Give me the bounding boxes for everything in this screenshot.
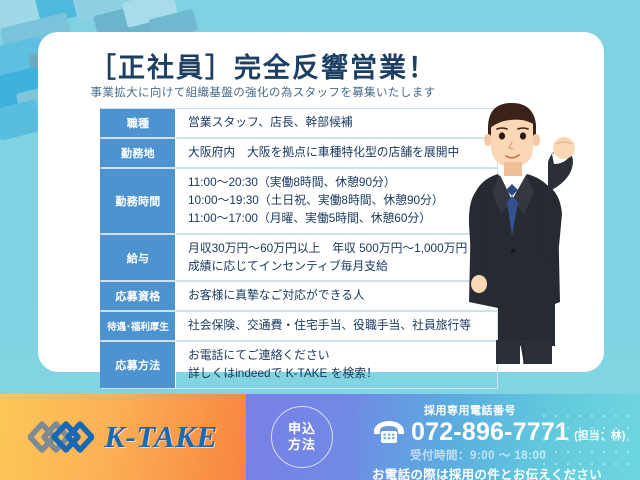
telephone-label: 採用専用電話番号 <box>424 402 640 418</box>
value-line: 詳しくはindeedで K-TAKE を検索！ <box>188 365 491 383</box>
table-row: 勤務地 大阪府内 大阪を拠点に車種特化型の店舗を展開中 <box>100 138 498 168</box>
recruiting-banner: RECRUITING! <box>605 0 638 22</box>
row-value-kyuyo: 月収30万円〜60万円以上 年収 500万円〜1,000万円 成績に応じてインセ… <box>176 234 498 282</box>
value-line: 11:00〜20:30（実働8時間、休憩90分） <box>188 174 491 192</box>
row-label-kinmuchi: 勤務地 <box>100 138 176 168</box>
telephone-block: 採用専用電話番号 072-896- <box>372 402 640 480</box>
table-row: 応募方法 お電話にてご連絡ください 詳しくはindeedで K-TAKE を検索… <box>100 341 498 389</box>
value-line: 大阪府内 大阪を拠点に車種特化型の店舗を展開中 <box>188 144 491 162</box>
value-line: お電話にてご連絡ください <box>188 347 491 365</box>
value-line: 社会保険、交通費・住宅手当、役職手当、社員旅行等 <box>188 317 491 335</box>
row-label-kyuyo: 給与 <box>100 234 176 282</box>
job-details-table: 職種 営業スタッフ、店長、幹部候補 勤務地 大阪府内 大阪を拠点に車種特化型の店… <box>100 108 498 389</box>
table-row: 職種 営業スタッフ、店長、幹部候補 <box>100 108 498 138</box>
company-name: K-TAKE <box>104 419 217 455</box>
telephone-icon <box>372 419 406 445</box>
chain-diamonds-logo-icon <box>28 414 94 460</box>
value-line: 月収30万円〜60万円以上 年収 500万円〜1,000万円 <box>188 240 491 258</box>
row-value-obohoho: お電話にてご連絡ください 詳しくはindeedで K-TAKE を検索！ <box>176 341 498 389</box>
page-title: ［正社員］完全反響営業！ <box>48 46 478 85</box>
job-details-body: 職種 営業スタッフ、店長、幹部候補 勤務地 大阪府内 大阪を拠点に車種特化型の店… <box>100 108 498 389</box>
row-label-oboshikaku: 応募資格 <box>100 281 176 311</box>
table-row: 待遇･福利厚生 社会保険、交通費・住宅手当、役職手当、社員旅行等 <box>100 311 498 341</box>
value-line: お客様に真摯なご対応ができる人 <box>188 287 491 305</box>
apply-badge-line1: 申込 <box>288 421 316 437</box>
telephone-section: 採用専用電話番号 072-896- <box>358 394 640 480</box>
company-logo-section: K-TAKE <box>0 394 246 480</box>
row-label-shokushu: 職種 <box>100 108 176 138</box>
value-line: 11:00〜17:00（月曜、実働5時間、休憩60分） <box>188 210 491 228</box>
page-subtitle: 事業拡大に向けて組織基盤の強化の為スタッフを募集いたします <box>48 84 478 100</box>
row-value-taigu-fukuri: 社会保険、交通費・住宅手当、役職手当、社員旅行等 <box>176 311 498 341</box>
row-value-shokushu: 営業スタッフ、店長、幹部候補 <box>176 108 498 138</box>
deco-block <box>0 99 43 140</box>
value-line: 10:00〜19:30（土日祝、実働8時間、休憩90分） <box>188 192 491 210</box>
telephone-hours: 受付時間：9:00 〜 18:00 <box>410 447 640 463</box>
value-line: 営業スタッフ、店長、幹部候補 <box>188 114 491 132</box>
businessman-illustration <box>452 96 582 368</box>
row-value-oboshikaku: お客様に真摯なご対応ができる人 <box>176 281 498 311</box>
telephone-contact-person: (担当：林) <box>574 427 625 445</box>
telephone-note: お電話の際は採用の件とお伝えください <box>372 464 640 480</box>
table-row: 給与 月収30万円〜60万円以上 年収 500万円〜1,000万円 成績に応じて… <box>100 234 498 282</box>
row-label-taigu-fukuri: 待遇･福利厚生 <box>100 311 176 341</box>
row-value-kinmujikan: 11:00〜20:30（実働8時間、休憩90分） 10:00〜19:30（土日祝… <box>176 168 498 234</box>
recruitment-poster: RECRUITING! ［正社員］完全反響営業！ 事業拡大に向けて組織基盤の強化… <box>0 0 640 480</box>
row-label-kinmujikan: 勤務時間 <box>100 168 176 234</box>
table-row: 勤務時間 11:00〜20:30（実働8時間、休憩90分） 10:00〜19:3… <box>100 168 498 234</box>
apply-method-section: 申込 方法 <box>246 394 358 480</box>
footer-bar: K-TAKE 申込 方法 採用専用電話番号 <box>0 394 640 480</box>
apply-badge-line2: 方法 <box>288 437 316 453</box>
row-label-obohoho: 応募方法 <box>100 341 176 389</box>
table-row: 応募資格 お客様に真摯なご対応ができる人 <box>100 281 498 311</box>
row-value-kinmuchi: 大阪府内 大阪を拠点に車種特化型の店舗を展開中 <box>176 138 498 168</box>
telephone-number-row: 072-896-7771 (担当：林) <box>372 419 640 445</box>
telephone-number[interactable]: 072-896-7771 <box>411 420 569 445</box>
apply-method-badge: 申込 方法 <box>271 406 333 468</box>
value-line: 成績に応じてインセンティブ毎月支給 <box>188 258 491 276</box>
